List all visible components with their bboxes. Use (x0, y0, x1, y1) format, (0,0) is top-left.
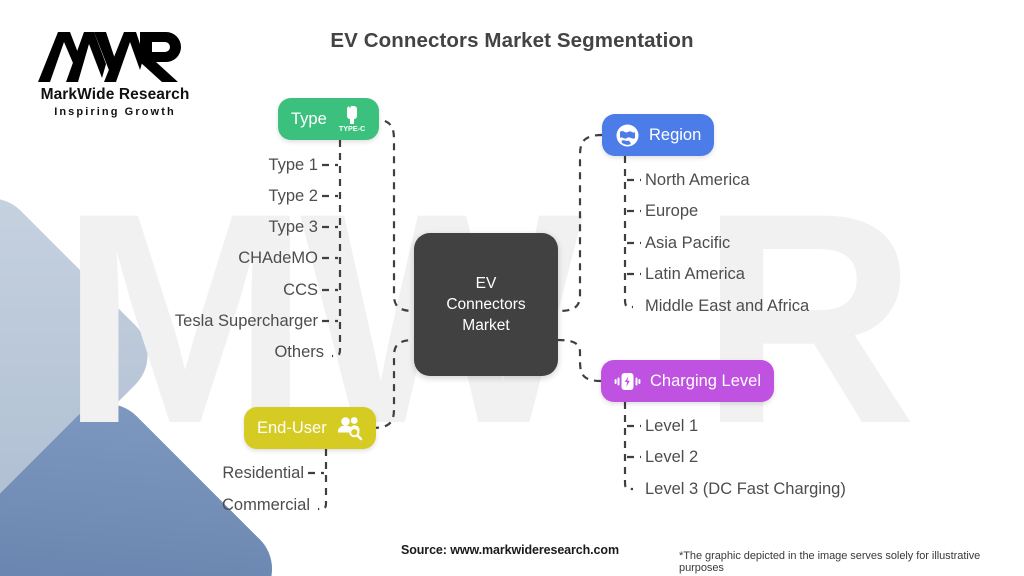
leaf-type-tesla-supercharger: Tesla Supercharger (175, 313, 318, 330)
leaf-charging-level-2: Level 2 (645, 449, 698, 466)
branch-label-end-user: End-User (257, 420, 327, 437)
wire-enduser-to-center (372, 340, 414, 428)
branch-node-region[interactable]: Region (602, 114, 714, 156)
branch-label-region: Region (649, 127, 701, 144)
leaf-type-others: Others (274, 344, 324, 361)
center-node[interactable]: EV Connectors Market (414, 233, 558, 376)
wire-enduser-spine (318, 449, 326, 509)
wire-charging-to-center (558, 340, 601, 381)
leaf-type-ccs: CCS (283, 282, 318, 299)
users-search-icon (336, 415, 363, 441)
leaf-end-user-commercial: Commercial (222, 497, 310, 514)
leaf-region-north-america: North America (645, 172, 750, 189)
branch-node-type[interactable]: Type TYPE-C (278, 98, 379, 140)
wire-region-spine (625, 156, 633, 307)
branch-node-end-user[interactable]: End-User (244, 407, 376, 449)
leaf-region-asia-pacific: Asia Pacific (645, 235, 730, 252)
source-citation: Source: www.markwideresearch.com (401, 543, 619, 557)
branch-label-type: Type (291, 111, 327, 128)
branch-node-charging-level[interactable]: Charging Level (601, 360, 774, 402)
leaf-end-user-residential: Residential (222, 465, 304, 482)
leaf-region-latin-america: Latin America (645, 266, 745, 283)
infographic-canvas: M W R MarkWide Research Inspiring Growth… (0, 0, 1024, 576)
globe-icon (615, 123, 640, 148)
wire-charging-spine (625, 402, 633, 489)
wire-type-to-center (372, 119, 414, 311)
battery-charging-icon (614, 369, 641, 394)
wire-region-to-center (558, 135, 602, 311)
leaf-type-3: Type 3 (268, 219, 318, 236)
usb-type-c-icon: TYPE-C (338, 104, 366, 134)
branch-label-charging-level: Charging Level (650, 373, 761, 390)
leaf-region-middle-east-and-africa: Middle East and Africa (645, 298, 809, 315)
leaf-charging-level-1: Level 1 (645, 418, 698, 435)
center-node-label: EV Connectors Market (446, 273, 525, 336)
svg-text:TYPE-C: TYPE-C (339, 124, 365, 133)
leaf-type-1: Type 1 (268, 157, 318, 174)
leaf-charging-level-3: Level 3 (DC Fast Charging) (645, 481, 846, 498)
leaf-region-europe: Europe (645, 203, 698, 220)
wire-type-spine (332, 140, 340, 356)
disclaimer-note: *The graphic depicted in the image serve… (679, 550, 1024, 574)
leaf-type-2: Type 2 (268, 188, 318, 205)
leaf-type-chademo: CHAdeMO (238, 250, 318, 267)
